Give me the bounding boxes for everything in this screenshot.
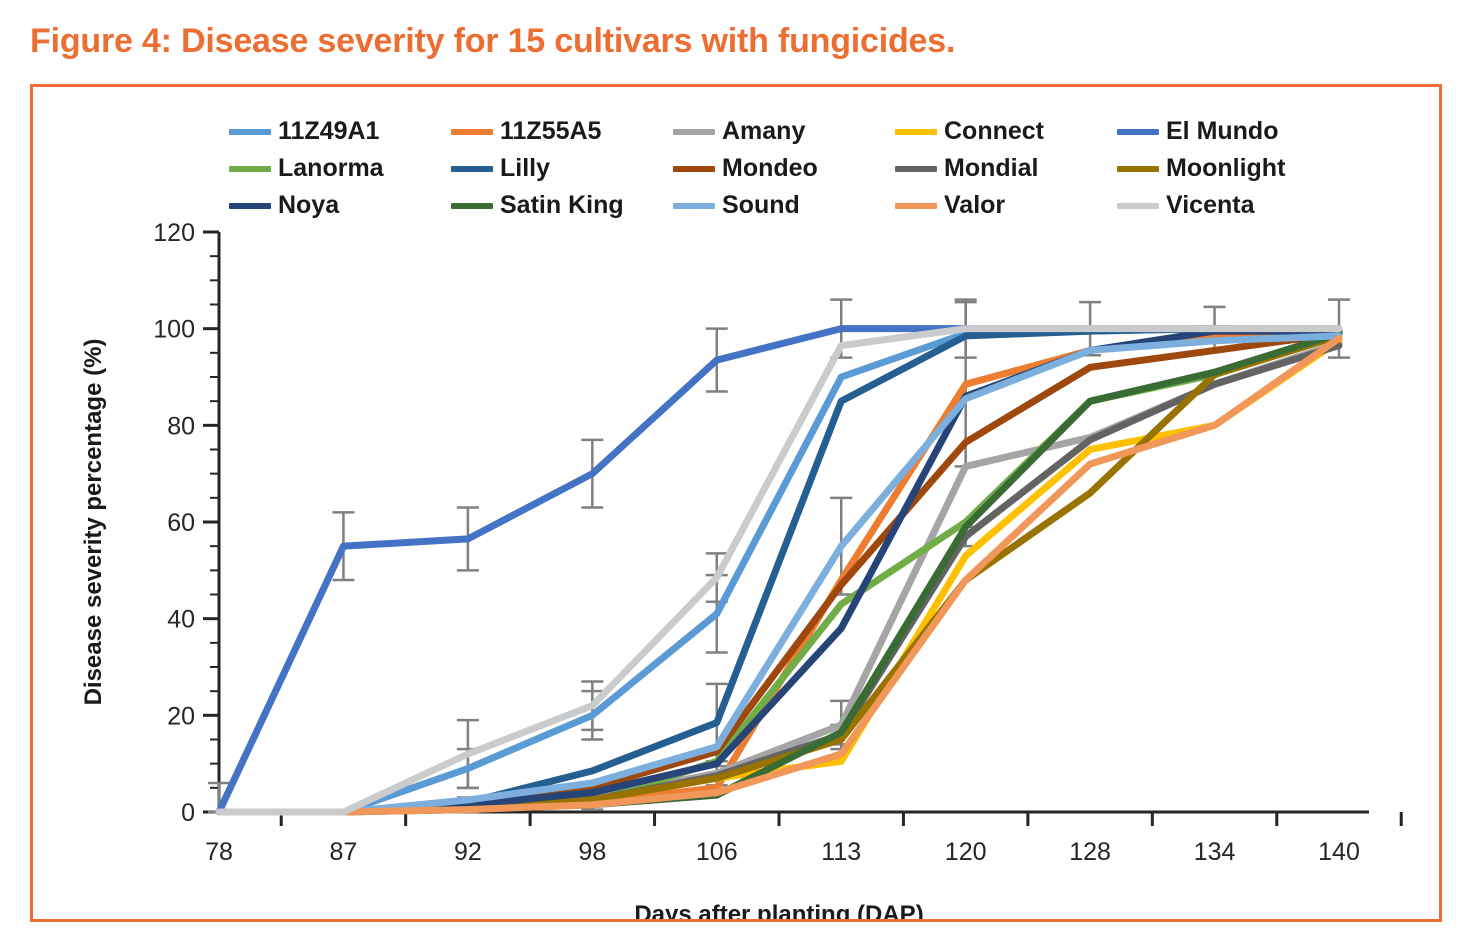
line-chart-svg: 0204060801001207887929810611312012813414… <box>33 87 1439 919</box>
x-axis-tick-label: 87 <box>330 838 358 866</box>
x-axis-tick-label: 106 <box>696 838 738 866</box>
plot-area: 0204060801001207887929810611312012813414… <box>33 87 1439 919</box>
series-line-valor[interactable] <box>219 338 1339 812</box>
figure-page: Figure 4: Disease severity for 15 cultiv… <box>0 0 1472 948</box>
x-axis-title: Days after planting (DAP) <box>634 901 923 919</box>
page-title: Figure 4: Disease severity for 15 cultiv… <box>30 22 1430 61</box>
x-axis-tick-label: 92 <box>454 838 482 866</box>
x-axis-tick-label: 113 <box>821 838 861 866</box>
x-axis-tick-label: 98 <box>578 838 606 866</box>
y-axis-tick-label: 100 <box>153 316 195 344</box>
y-axis-title: Disease severity percentage (%) <box>80 339 107 706</box>
y-axis-tick-label: 20 <box>167 702 195 730</box>
series-group <box>219 329 1339 812</box>
x-axis-tick-label: 78 <box>205 838 233 866</box>
y-axis-tick-label: 120 <box>153 219 195 247</box>
y-axis-tick-label: 80 <box>167 412 195 440</box>
x-axis-tick-label: 128 <box>1069 838 1111 866</box>
y-axis-tick-label: 0 <box>181 799 195 827</box>
x-axis-tick-label: 134 <box>1194 838 1236 866</box>
chart-frame: 11Z49A111Z55A5AmanyConnectEl MundoLanorm… <box>30 84 1442 922</box>
y-axis-tick-label: 60 <box>167 509 195 537</box>
x-axis-tick-label: 140 <box>1318 838 1360 866</box>
y-axis-tick-label: 40 <box>167 606 195 634</box>
x-axis-tick-label: 120 <box>945 838 987 866</box>
